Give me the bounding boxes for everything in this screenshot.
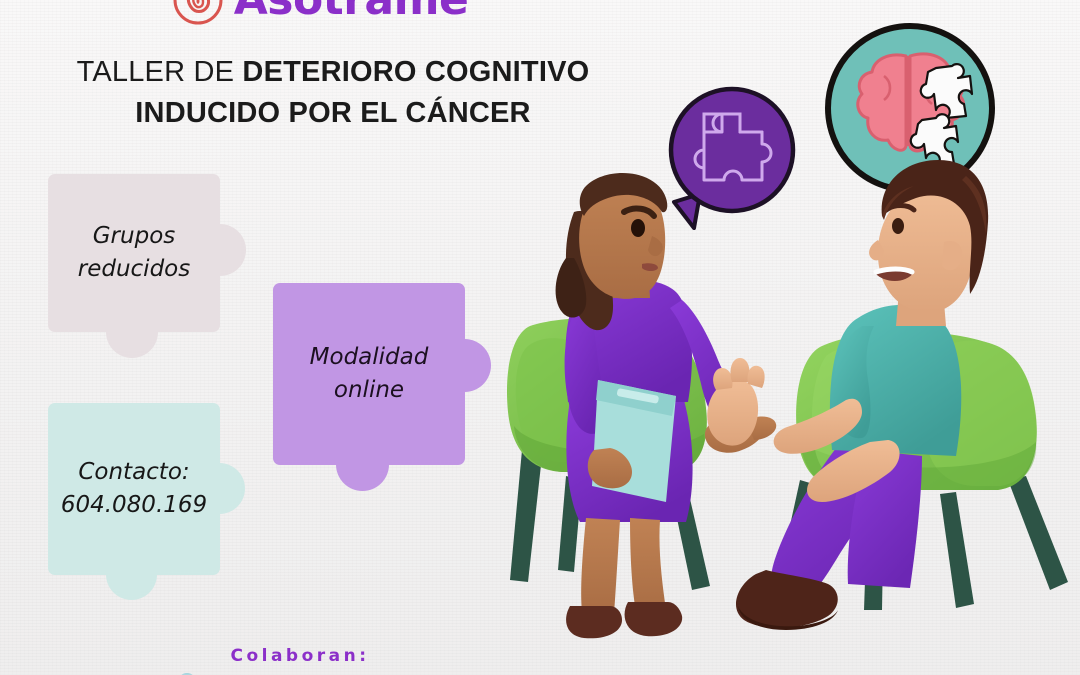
title-line-2: INDUCIDO POR EL CÁNCER xyxy=(38,93,628,134)
contact-label: Contacto: xyxy=(78,456,189,489)
puzzle-label-line-2: online xyxy=(334,374,404,407)
puzzle-label-group: Modalidad online xyxy=(273,283,465,465)
man-patient xyxy=(707,160,988,630)
puzzle-label-line-2: reducidos xyxy=(78,253,190,286)
partner-logo-teal-icon xyxy=(163,668,413,675)
brand-wordmark: Asotrame xyxy=(234,0,469,22)
brand-logo: Asotrame xyxy=(0,0,640,30)
puzzle-label-group: Contacto: 604.080.169 xyxy=(48,403,220,575)
puzzle-label-line-1: Modalidad xyxy=(310,341,429,374)
title-light-part: TALLER DE xyxy=(77,56,243,88)
title-line-1: TALLER DE DETERIORO COGNITIVO xyxy=(38,52,628,93)
asotrame-spiral-flame-icon xyxy=(172,0,224,26)
puzzle-piece-modalidad-online: Modalidad online xyxy=(273,283,465,465)
poster-canvas: Asotrame TALLER DE DETERIORO COGNITIVO I… xyxy=(0,0,1080,675)
two-people-talking-illustration xyxy=(470,150,1080,675)
contact-phone-number: 604.080.169 xyxy=(61,489,207,522)
title-bold-part-1: DETERIORO COGNITIVO xyxy=(242,56,589,88)
puzzle-piece-contacto: Contacto: 604.080.169 xyxy=(48,403,220,575)
collaborators-label: Colaboran: xyxy=(150,646,450,666)
puzzle-label-line-1: Grupos xyxy=(93,220,176,253)
puzzle-piece-grupos-reducidos: Grupos reducidos xyxy=(48,174,220,332)
page-title: TALLER DE DETERIORO COGNITIVO INDUCIDO P… xyxy=(38,52,628,134)
puzzle-label-group: Grupos reducidos xyxy=(48,174,220,332)
